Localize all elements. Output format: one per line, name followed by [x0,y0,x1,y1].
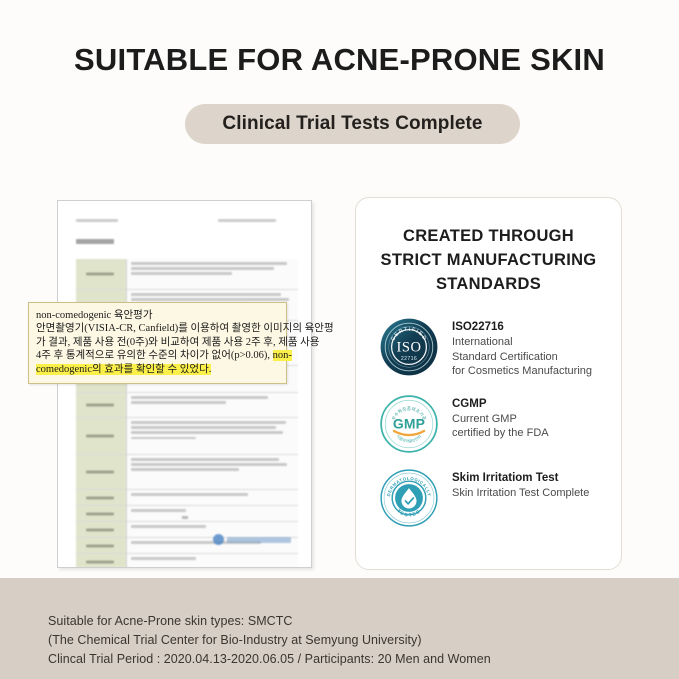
callout-line: non-comedogenic 육안평가 [36,309,279,322]
callout-highlight-text: non- [273,350,292,361]
certification-desc-line: Standard Certification [452,350,592,365]
footer-disclaimer: Suitable for Acne-Prone skin types: SMCT… [48,612,648,669]
svg-text:ISO: ISO [396,340,421,356]
clinical-trial-badge: Clinical Trial Tests Complete [185,104,520,144]
card-heading: CREATED THROUGH STRICT MANUFACTURING STA… [370,224,607,296]
dermatologically-tested-seal-icon: DERMATOLOGICALLY TESTED [380,469,438,527]
certification-item-iso: CERTIFIED ISO 22716 ISO22716 Internation… [356,318,621,379]
certification-item-skin-irritation: DERMATOLOGICALLY TESTED Skim Irritatiom … [356,469,621,527]
certification-desc-line: for Cosmetics Manufacturing [452,364,592,379]
card-heading-line: STRICT MANUFACTURING [370,248,607,272]
certification-list: CERTIFIED ISO 22716 ISO22716 Internation… [356,318,621,527]
footer-line: Suitable for Acne-Prone skin types: SMCT… [48,612,648,631]
certification-text-iso: ISO22716 International Standard Certific… [452,318,592,379]
non-comedogenic-result-callout: non-comedogenic 육안평가 안면촬영기(VISIA-CR, Can… [28,302,287,384]
iso-certified-seal-icon: CERTIFIED ISO 22716 [380,318,438,376]
card-heading-line: CREATED THROUGH [370,224,607,248]
certification-desc-line: International [452,335,592,350]
callout-line: 4주 후 통계적으로 유의한 수준의 차이가 없어(p>0.06), non- [36,349,279,362]
certification-desc-line: Skin Irritation Test Complete [452,486,589,501]
gmp-certified-seal-icon: 우수화장품제조기준 GMP 식품의약품안전처 [380,395,438,453]
report-issuer-seal-icon [213,534,291,545]
callout-highlight-text: comedogenic의 효과를 확인할 수 있었다. [36,364,211,375]
manufacturing-standards-card: CREATED THROUGH STRICT MANUFACTURING STA… [355,197,622,570]
certification-desc-line: certified by the FDA [452,426,549,441]
certification-title: ISO22716 [452,320,592,335]
certification-item-cgmp: 우수화장품제조기준 GMP 식품의약품안전처 CGMP Current GMP … [356,395,621,453]
svg-text:22716: 22716 [401,356,417,362]
certification-title: CGMP [452,397,549,412]
certification-title: Skim Irritatiom Test [452,471,589,486]
certification-desc-line: Current GMP [452,412,549,427]
promo-page: SUITABLE FOR ACNE-PRONE SKIN Clinical Tr… [0,0,679,679]
certification-text-cgmp: CGMP Current GMP certified by the FDA [452,395,549,441]
callout-line: comedogenic의 효과를 확인할 수 있었다. [36,363,279,376]
card-heading-line: STANDARDS [370,272,607,296]
svg-text:GMP: GMP [393,415,425,431]
callout-line-text: 4주 후 통계적으로 유의한 수준의 차이가 없어(p>0.06), [36,350,273,361]
footer-line: (The Chemical Trial Center for Bio-Indus… [48,631,648,650]
callout-line: 가 결과, 제품 사용 전(0주)와 비교하여 제품 사용 2주 후, 제품 사… [36,336,279,349]
clinical-trial-badge-label: Clinical Trial Tests Complete [185,104,520,144]
certification-text-skin-irritation: Skim Irritatiom Test Skin Irritation Tes… [452,469,589,501]
callout-line: 안면촬영기(VISIA-CR, Canfield)를 이용하여 촬영한 이미지의… [36,322,279,335]
footer-line: Clincal Trial Period : 2020.04.13-2020.0… [48,650,648,669]
page-title: SUITABLE FOR ACNE-PRONE SKIN [0,42,679,78]
report-page-number [182,516,188,519]
